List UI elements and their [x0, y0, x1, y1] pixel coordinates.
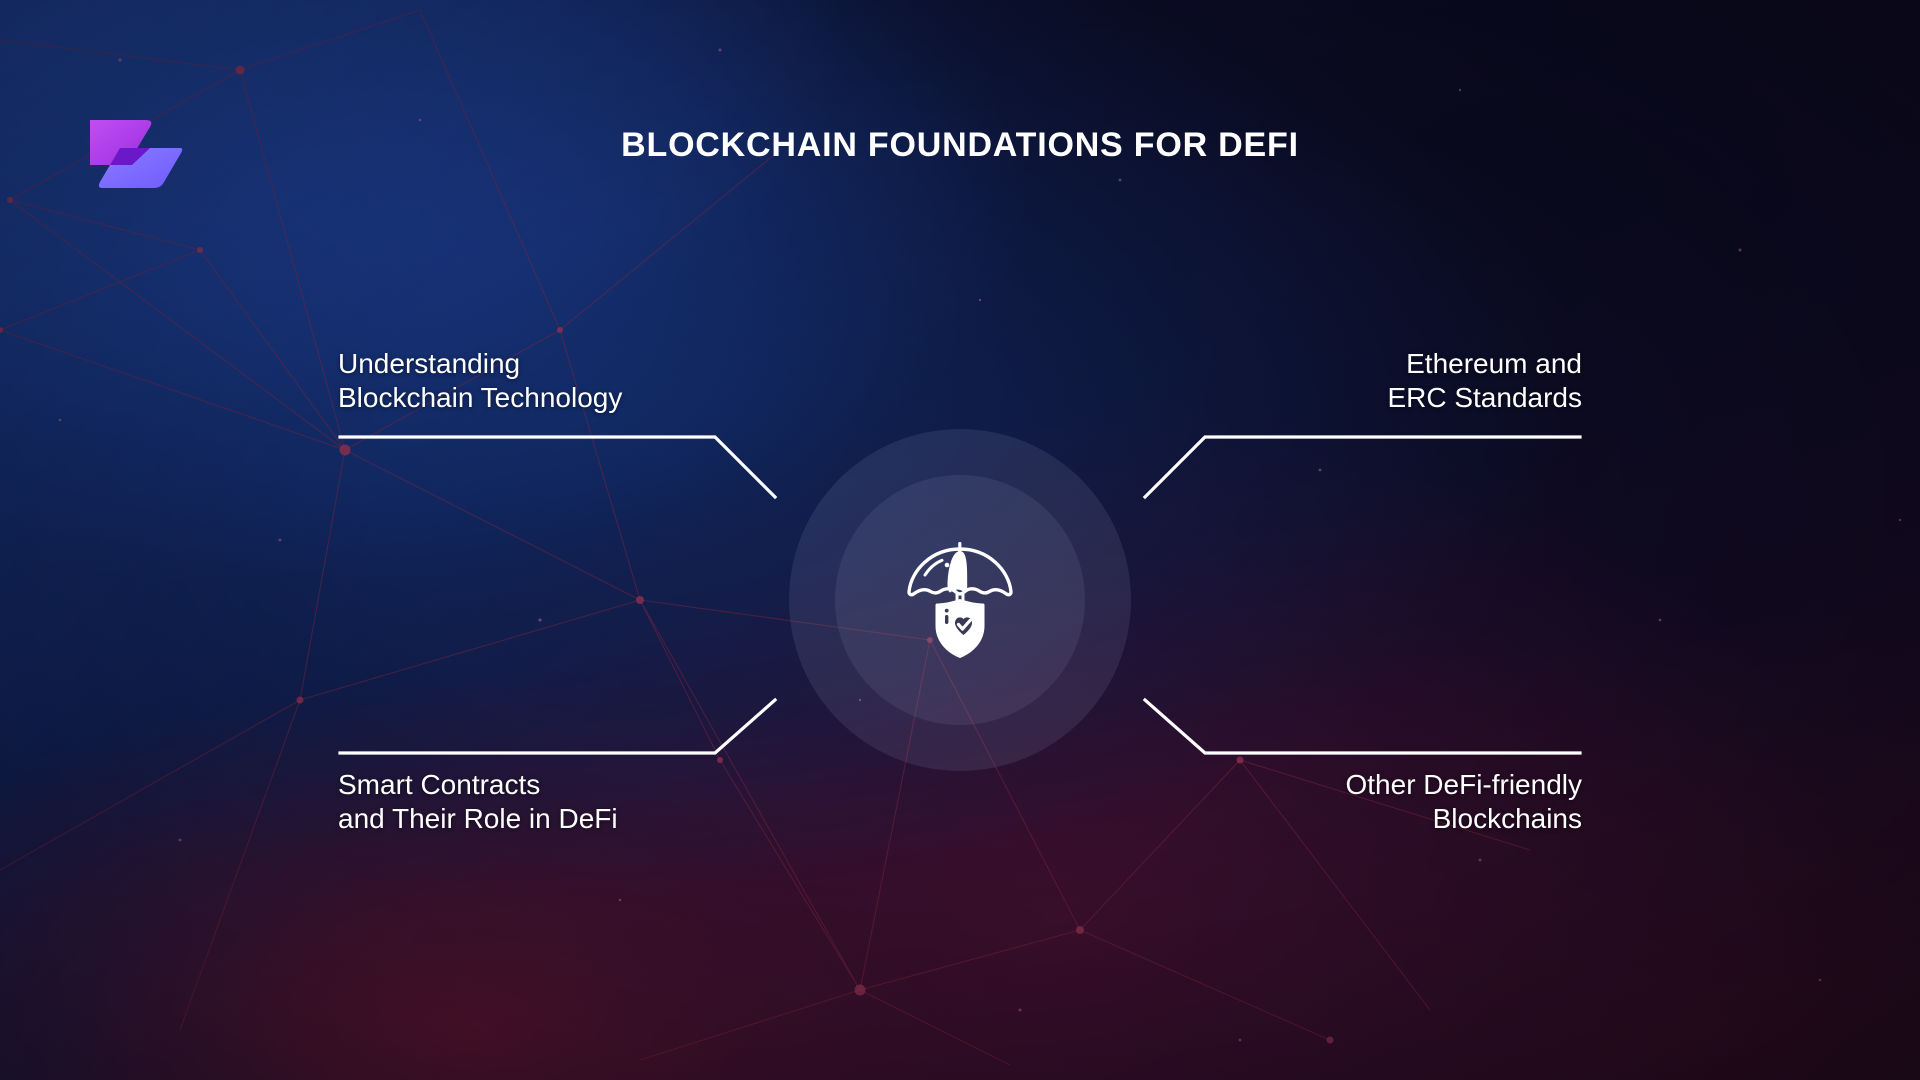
label-smart-contracts-and-their-role-in-defi: Smart Contracts and Their Role in DeFi	[338, 768, 618, 836]
connector-bottom-right	[1145, 700, 1580, 753]
label-understanding-blockchain-technology: Understanding Blockchain Technology	[338, 347, 622, 415]
connector-top-left	[340, 437, 775, 497]
label-other-defi-friendly-blockchains: Other DeFi-friendly Blockchains	[1345, 768, 1582, 836]
connector-top-right	[1145, 437, 1580, 497]
connector-bottom-left	[340, 700, 775, 753]
slide-canvas: BLOCKCHAIN FOUNDATIONS FOR DEFI Und	[0, 0, 1920, 1080]
umbrella-shield-check-icon	[905, 540, 1015, 660]
label-ethereum-and-erc-standards: Ethereum and ERC Standards	[1387, 347, 1582, 415]
